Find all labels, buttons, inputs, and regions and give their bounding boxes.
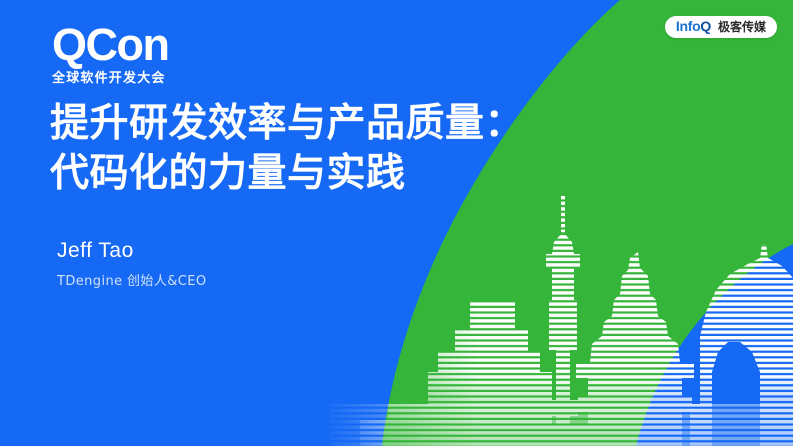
speaker-role: TDengine 创始人&CEO xyxy=(57,273,206,290)
title-line-2: 代码化的力量与实践 xyxy=(50,149,524,199)
skyline-ground-haze xyxy=(330,404,793,446)
qcon-logo: QCon 全球软件开发大会 xyxy=(52,22,168,85)
session-title: 提升研发效率与产品质量： 代码化的力量与实践 xyxy=(50,99,524,199)
title-line-1: 提升研发效率与产品质量： xyxy=(50,99,524,149)
infoq-partner-badge: InfoQ 极客传媒 xyxy=(665,16,777,38)
infoq-wordmark: InfoQ xyxy=(676,19,711,34)
infoq-chinese-label: 极客传媒 xyxy=(718,20,766,34)
infoq-mark-suffix: Q xyxy=(700,18,711,34)
speaker-name: Jeff Tao xyxy=(57,238,206,264)
infoq-mark-prefix: Info xyxy=(676,18,700,34)
qcon-title-slide: QCon 全球软件开发大会 InfoQ 极客传媒 提升研发效率与产品质量： 代码… xyxy=(0,0,793,446)
qcon-tagline: 全球软件开发大会 xyxy=(52,70,168,85)
speaker-info: Jeff Tao TDengine 创始人&CEO xyxy=(57,238,206,290)
qcon-wordmark: QCon xyxy=(52,22,168,67)
